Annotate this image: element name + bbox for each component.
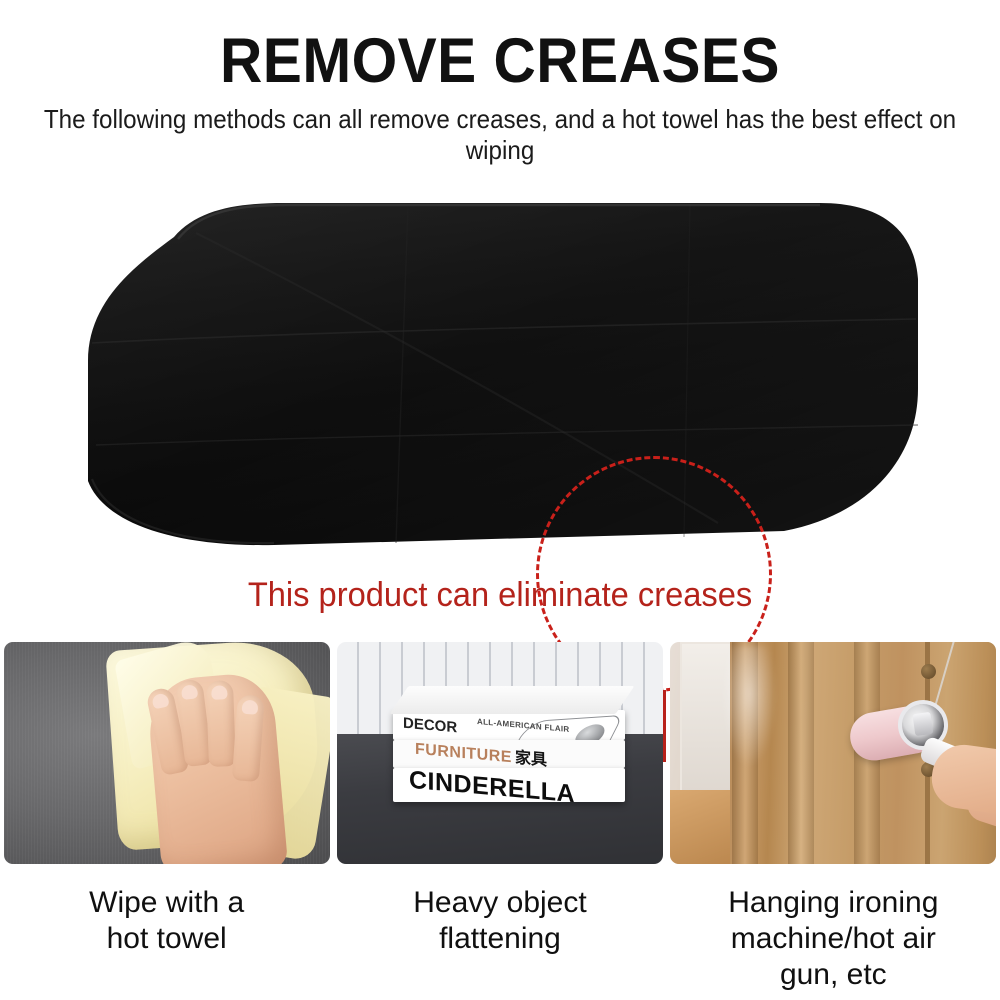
- book-cover-top: [390, 686, 635, 714]
- panel-wipe-with-hot-towel: Wipe with a hot towel: [0, 642, 333, 1000]
- steam-vapor: [722, 646, 776, 766]
- book-spine-title: DECOR: [403, 715, 457, 737]
- coat-button: [921, 664, 936, 679]
- book-spine-title: CINDERELLA: [409, 766, 575, 810]
- book-spine-subtitle: 家具: [515, 744, 547, 771]
- page-title: REMOVE CREASES: [35, 28, 965, 94]
- panel-heavy-object-flattening: DECOR ALL-AMERICAN FLAIR FURNITURE 家具 CI…: [333, 642, 666, 1000]
- header-block: REMOVE CREASES The following methods can…: [0, 28, 1000, 166]
- fingernail: [180, 684, 198, 700]
- hand: [145, 671, 288, 864]
- panel-caption: Wipe with a hot towel: [17, 885, 317, 957]
- photo-heavy-object-flattening: DECOR ALL-AMERICAN FLAIR FURNITURE 家具 CI…: [337, 642, 663, 864]
- black-ironing-mat: [78, 193, 923, 555]
- panel-caption: Heavy object flattening: [350, 885, 650, 957]
- book-cinderella: CINDERELLA: [393, 768, 625, 802]
- method-panels: Wipe with a hot towel DECOR ALL-AMERICAN…: [0, 642, 1000, 1000]
- book-furniture: FURNITURE 家具: [393, 740, 625, 768]
- coat-fold: [788, 642, 814, 864]
- book-spine-title: FURNITURE: [415, 741, 512, 767]
- book-decor: DECOR ALL-AMERICAN FLAIR: [393, 710, 625, 740]
- steamer-cord: [934, 642, 957, 709]
- finger-ring: [206, 680, 236, 767]
- book-stack: DECOR ALL-AMERICAN FLAIR FURNITURE 家具 CI…: [393, 684, 625, 824]
- photo-hanging-ironing-machine: [670, 642, 996, 864]
- hero-product-image: [0, 185, 1000, 575]
- panel-hanging-ironing-machine: Hanging ironing machine/hot air gun, etc: [667, 642, 1000, 1000]
- panel-caption: Hanging ironing machine/hot air gun, etc: [683, 885, 983, 993]
- page-subtitle: The following methods can all remove cre…: [35, 104, 965, 166]
- fingernail: [151, 692, 170, 709]
- photo-wipe-with-hot-towel: [4, 642, 330, 864]
- fingernail: [211, 685, 227, 700]
- product-infographic-page: REMOVE CREASES The following methods can…: [0, 0, 1000, 1000]
- callout-caption: This product can eliminate creases: [20, 575, 980, 615]
- finger-pinky: [232, 694, 265, 782]
- fingernail: [241, 700, 258, 715]
